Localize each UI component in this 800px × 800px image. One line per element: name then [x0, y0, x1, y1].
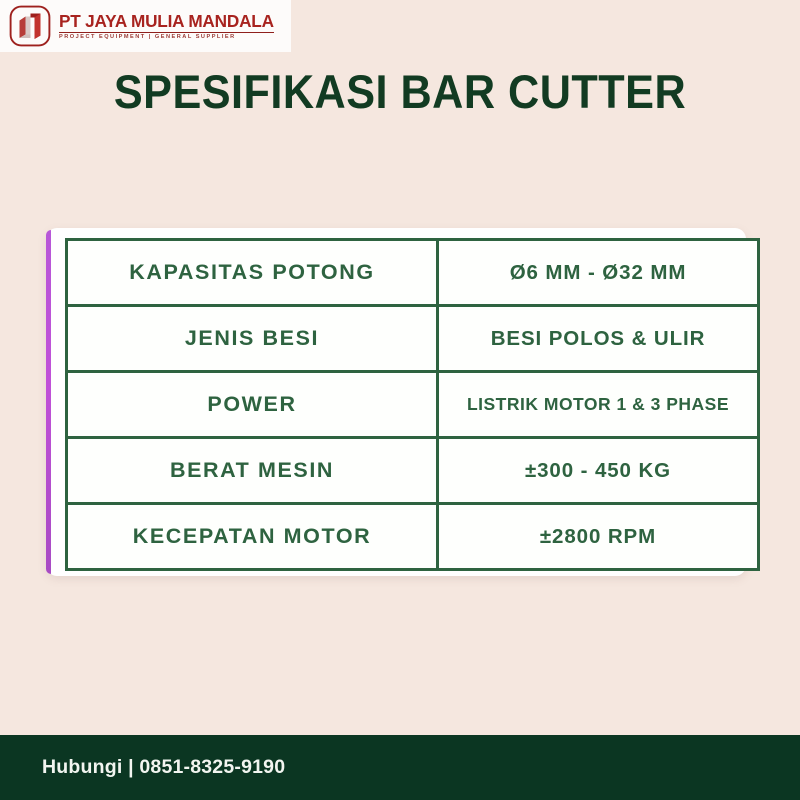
company-tagline: PROJECT EQUIPMENT | GENERAL SUPPLIER — [59, 35, 274, 41]
spec-value-cell: LISTRIK MOTOR 1 & 3 PHASE — [438, 372, 759, 438]
specification-table: KAPASITAS POTONG Ø6 MM - Ø32 MM JENIS BE… — [65, 238, 760, 571]
table-row: JENIS BESI BESI POLOS & ULIR — [67, 306, 759, 372]
table-row: POWER LISTRIK MOTOR 1 & 3 PHASE — [67, 372, 759, 438]
spec-value-cell: ±2800 RPM — [438, 504, 759, 570]
table-row: KAPASITAS POTONG Ø6 MM - Ø32 MM — [67, 240, 759, 306]
table-row: BERAT MESIN ±300 - 450 KG — [67, 438, 759, 504]
spec-value-cell: ±300 - 450 KG — [438, 438, 759, 504]
footer-contact-bar: Hubungi | 0851-8325-9190 — [0, 735, 800, 800]
specification-table-body: KAPASITAS POTONG Ø6 MM - Ø32 MM JENIS BE… — [67, 240, 759, 570]
company-name: PT JAYA MULIA MANDALA — [59, 12, 274, 30]
logo-text-block: PT JAYA MULIA MANDALA PROJECT EQUIPMENT … — [59, 12, 274, 41]
spec-value-cell: BESI POLOS & ULIR — [438, 306, 759, 372]
card-accent-stripe — [46, 230, 51, 574]
spec-label-cell: KAPASITAS POTONG — [67, 240, 438, 306]
table-row: KECEPATAN MOTOR ±2800 RPM — [67, 504, 759, 570]
spec-label-cell: POWER — [67, 372, 438, 438]
footer-contact-text: Hubungi | 0851-8325-9190 — [42, 756, 285, 779]
building-block-logo-icon — [9, 5, 51, 47]
spec-label-cell: BERAT MESIN — [67, 438, 438, 504]
logo-header-band: PT JAYA MULIA MANDALA PROJECT EQUIPMENT … — [0, 0, 291, 52]
specification-card: KAPASITAS POTONG Ø6 MM - Ø32 MM JENIS BE… — [46, 228, 746, 576]
spec-value-cell: Ø6 MM - Ø32 MM — [438, 240, 759, 306]
page-title: SPESIFIKASI BAR CUTTER — [32, 64, 768, 120]
spec-label-cell: KECEPATAN MOTOR — [67, 504, 438, 570]
logo-divider-rule — [59, 32, 274, 33]
spec-label-cell: JENIS BESI — [67, 306, 438, 372]
